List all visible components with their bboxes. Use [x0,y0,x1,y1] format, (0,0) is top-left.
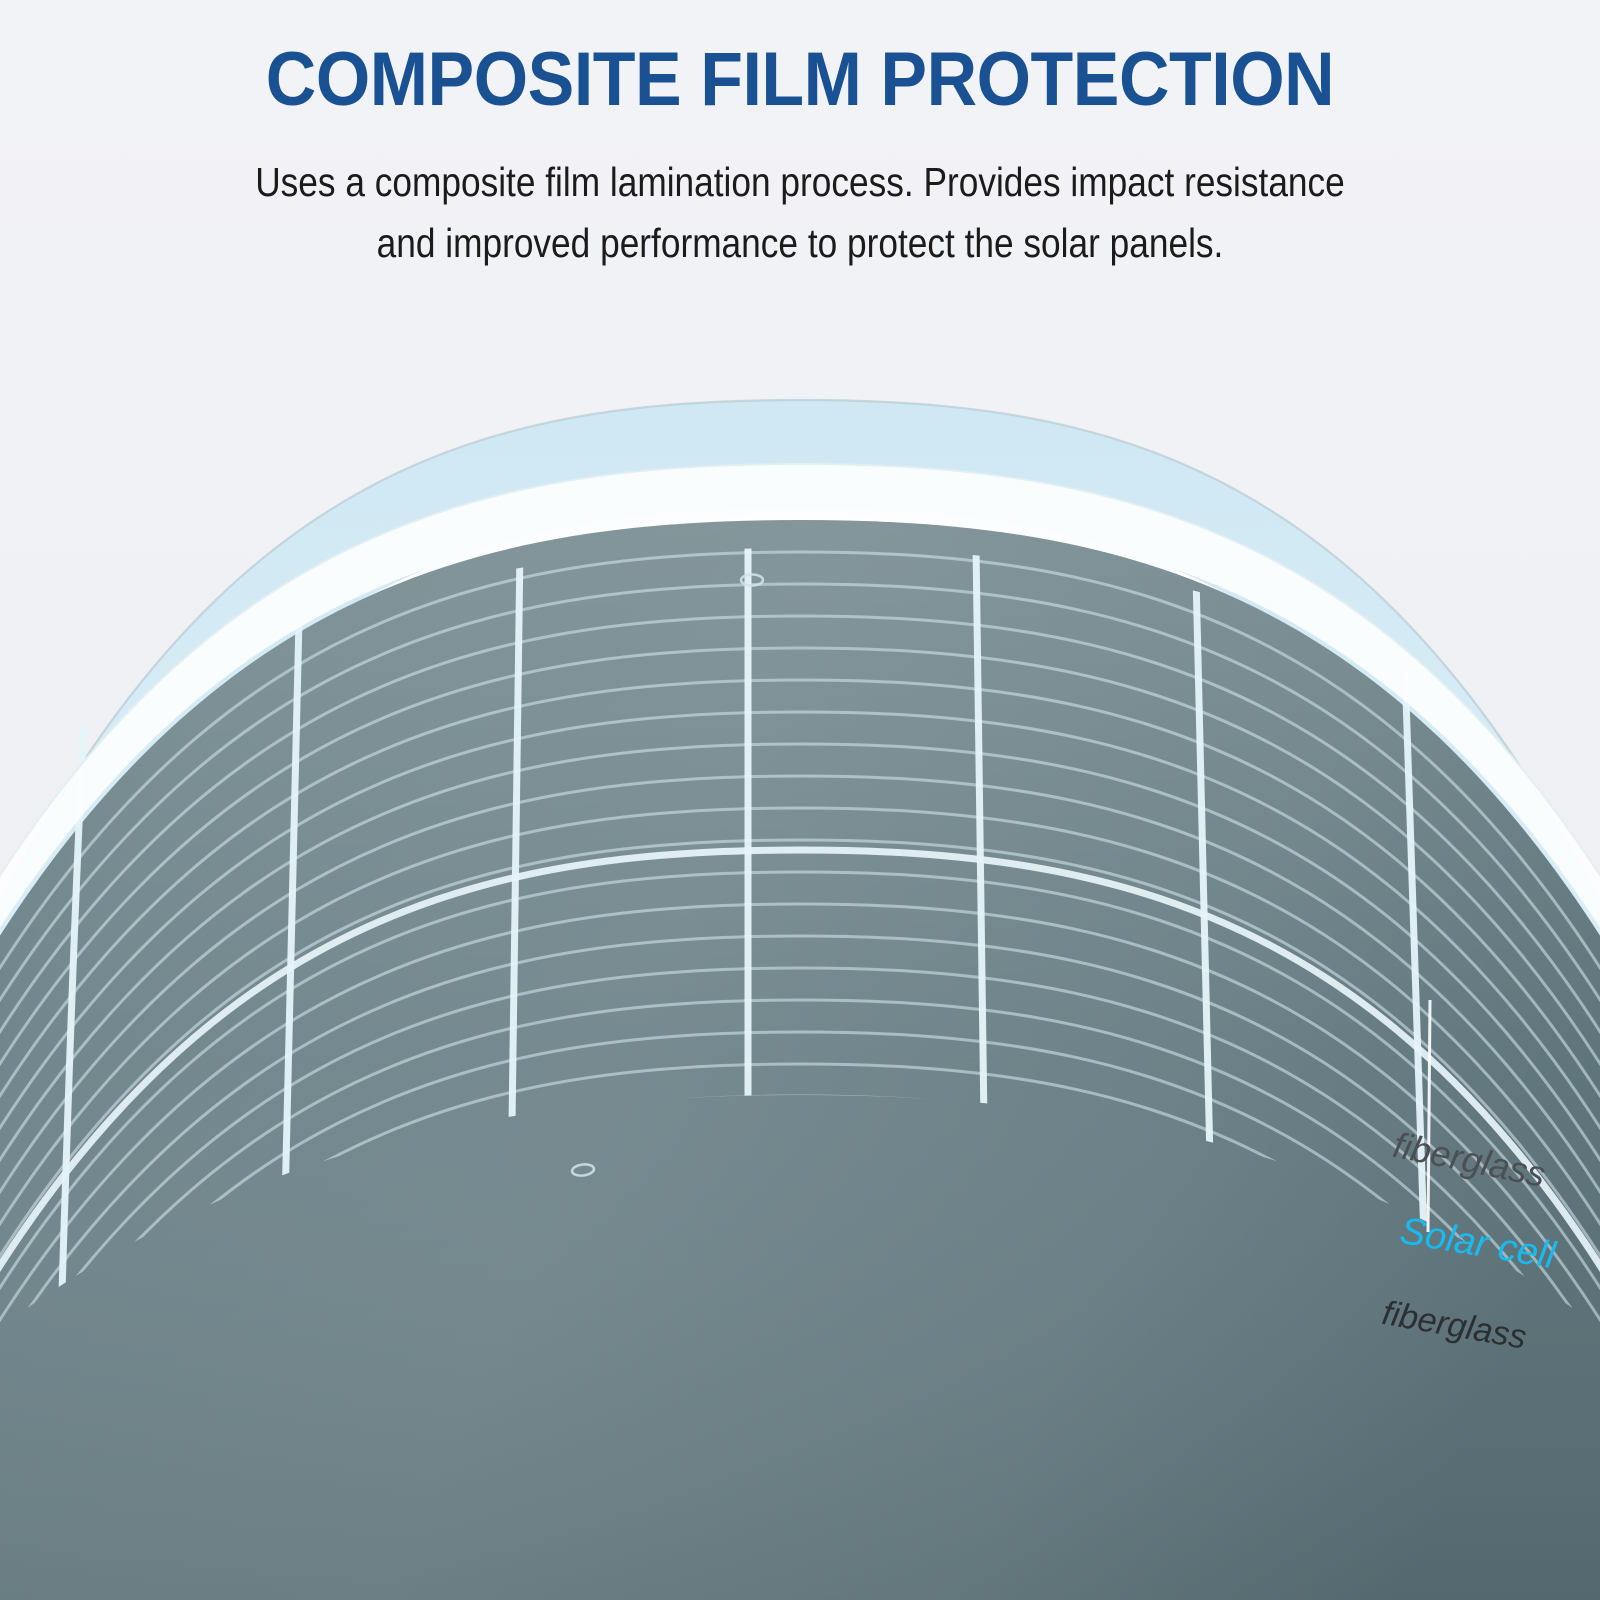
page-root: COMPOSITE FILM PROTECTION Uses a composi… [0,0,1600,1600]
page-subtitle: Uses a composite film lamination process… [112,152,1488,273]
callout-leader-lines [1428,1000,1430,1232]
subtitle-line-1: Uses a composite film lamination process… [112,152,1488,213]
header-block: COMPOSITE FILM PROTECTION Uses a composi… [0,0,1600,273]
page-title: COMPOSITE FILM PROTECTION [64,42,1536,118]
subtitle-line-2: and improved performance to protect the … [112,213,1488,274]
fiberglass-top-cell-field [0,520,1600,1600]
